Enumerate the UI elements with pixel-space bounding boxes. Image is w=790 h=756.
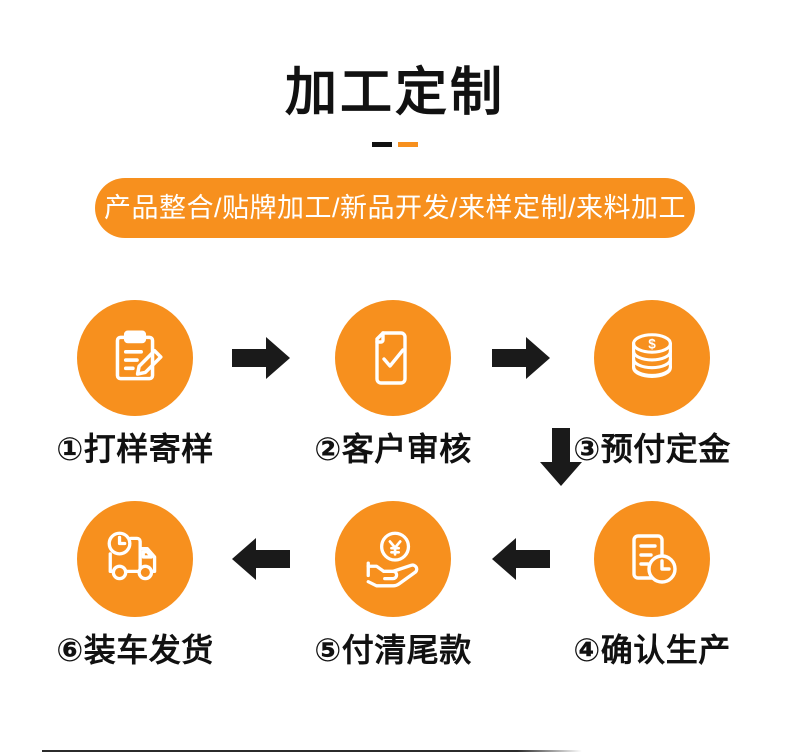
customization-process-banner: 加工定制 产品整合/贴牌加工/新品开发/来样定制/来料加工 ①打样寄样 <box>0 0 790 756</box>
process-step-2: ②客户审核 <box>303 300 483 468</box>
bottom-divider-rule <box>42 750 582 752</box>
arrow-step5-to-step6 <box>232 538 290 580</box>
process-step-3: $ ③预付定金 <box>562 300 742 468</box>
coin-stack-dollar-icon: $ <box>621 327 683 389</box>
step-1-icon-circle <box>77 300 193 416</box>
divider-dash-orange <box>398 142 418 147</box>
step-4-icon-circle <box>594 501 710 617</box>
tagline-text: 产品整合/贴牌加工/新品开发/来样定制/来料加工 <box>104 193 686 223</box>
process-step-4: ④确认生产 <box>562 501 742 669</box>
process-step-5: ⑤付清尾款 <box>303 501 483 669</box>
step-3-icon-circle: $ <box>594 300 710 416</box>
svg-text:$: $ <box>648 336 656 351</box>
process-step-6: ⑥装车发货 <box>45 501 225 669</box>
step-6-label: ⑥装车发货 <box>45 631 225 669</box>
page-title: 加工定制 <box>0 62 790 124</box>
arrow-step3-to-step4 <box>540 428 582 486</box>
divider-dash-dark <box>372 142 392 147</box>
delivery-truck-clock-icon <box>102 526 168 592</box>
document-clock-icon <box>620 527 684 591</box>
arrow-step2-to-step3 <box>492 337 550 379</box>
document-check-icon <box>361 326 425 390</box>
step-2-icon-circle <box>335 300 451 416</box>
arrow-step4-to-step5 <box>492 538 550 580</box>
step-3-label: ③预付定金 <box>562 430 742 468</box>
arrow-step1-to-step2 <box>232 337 290 379</box>
clipboard-pencil-icon <box>102 325 168 391</box>
hand-yuan-coin-icon <box>360 526 426 592</box>
tagline-pill: 产品整合/贴牌加工/新品开发/来样定制/来料加工 <box>95 178 695 238</box>
step-5-icon-circle <box>335 501 451 617</box>
process-step-1: ①打样寄样 <box>45 300 225 468</box>
title-divider <box>0 140 790 148</box>
step-1-label: ①打样寄样 <box>45 430 225 468</box>
step-6-icon-circle <box>77 501 193 617</box>
step-4-label: ④确认生产 <box>562 631 742 669</box>
step-2-label: ②客户审核 <box>303 430 483 468</box>
step-5-label: ⑤付清尾款 <box>303 631 483 669</box>
